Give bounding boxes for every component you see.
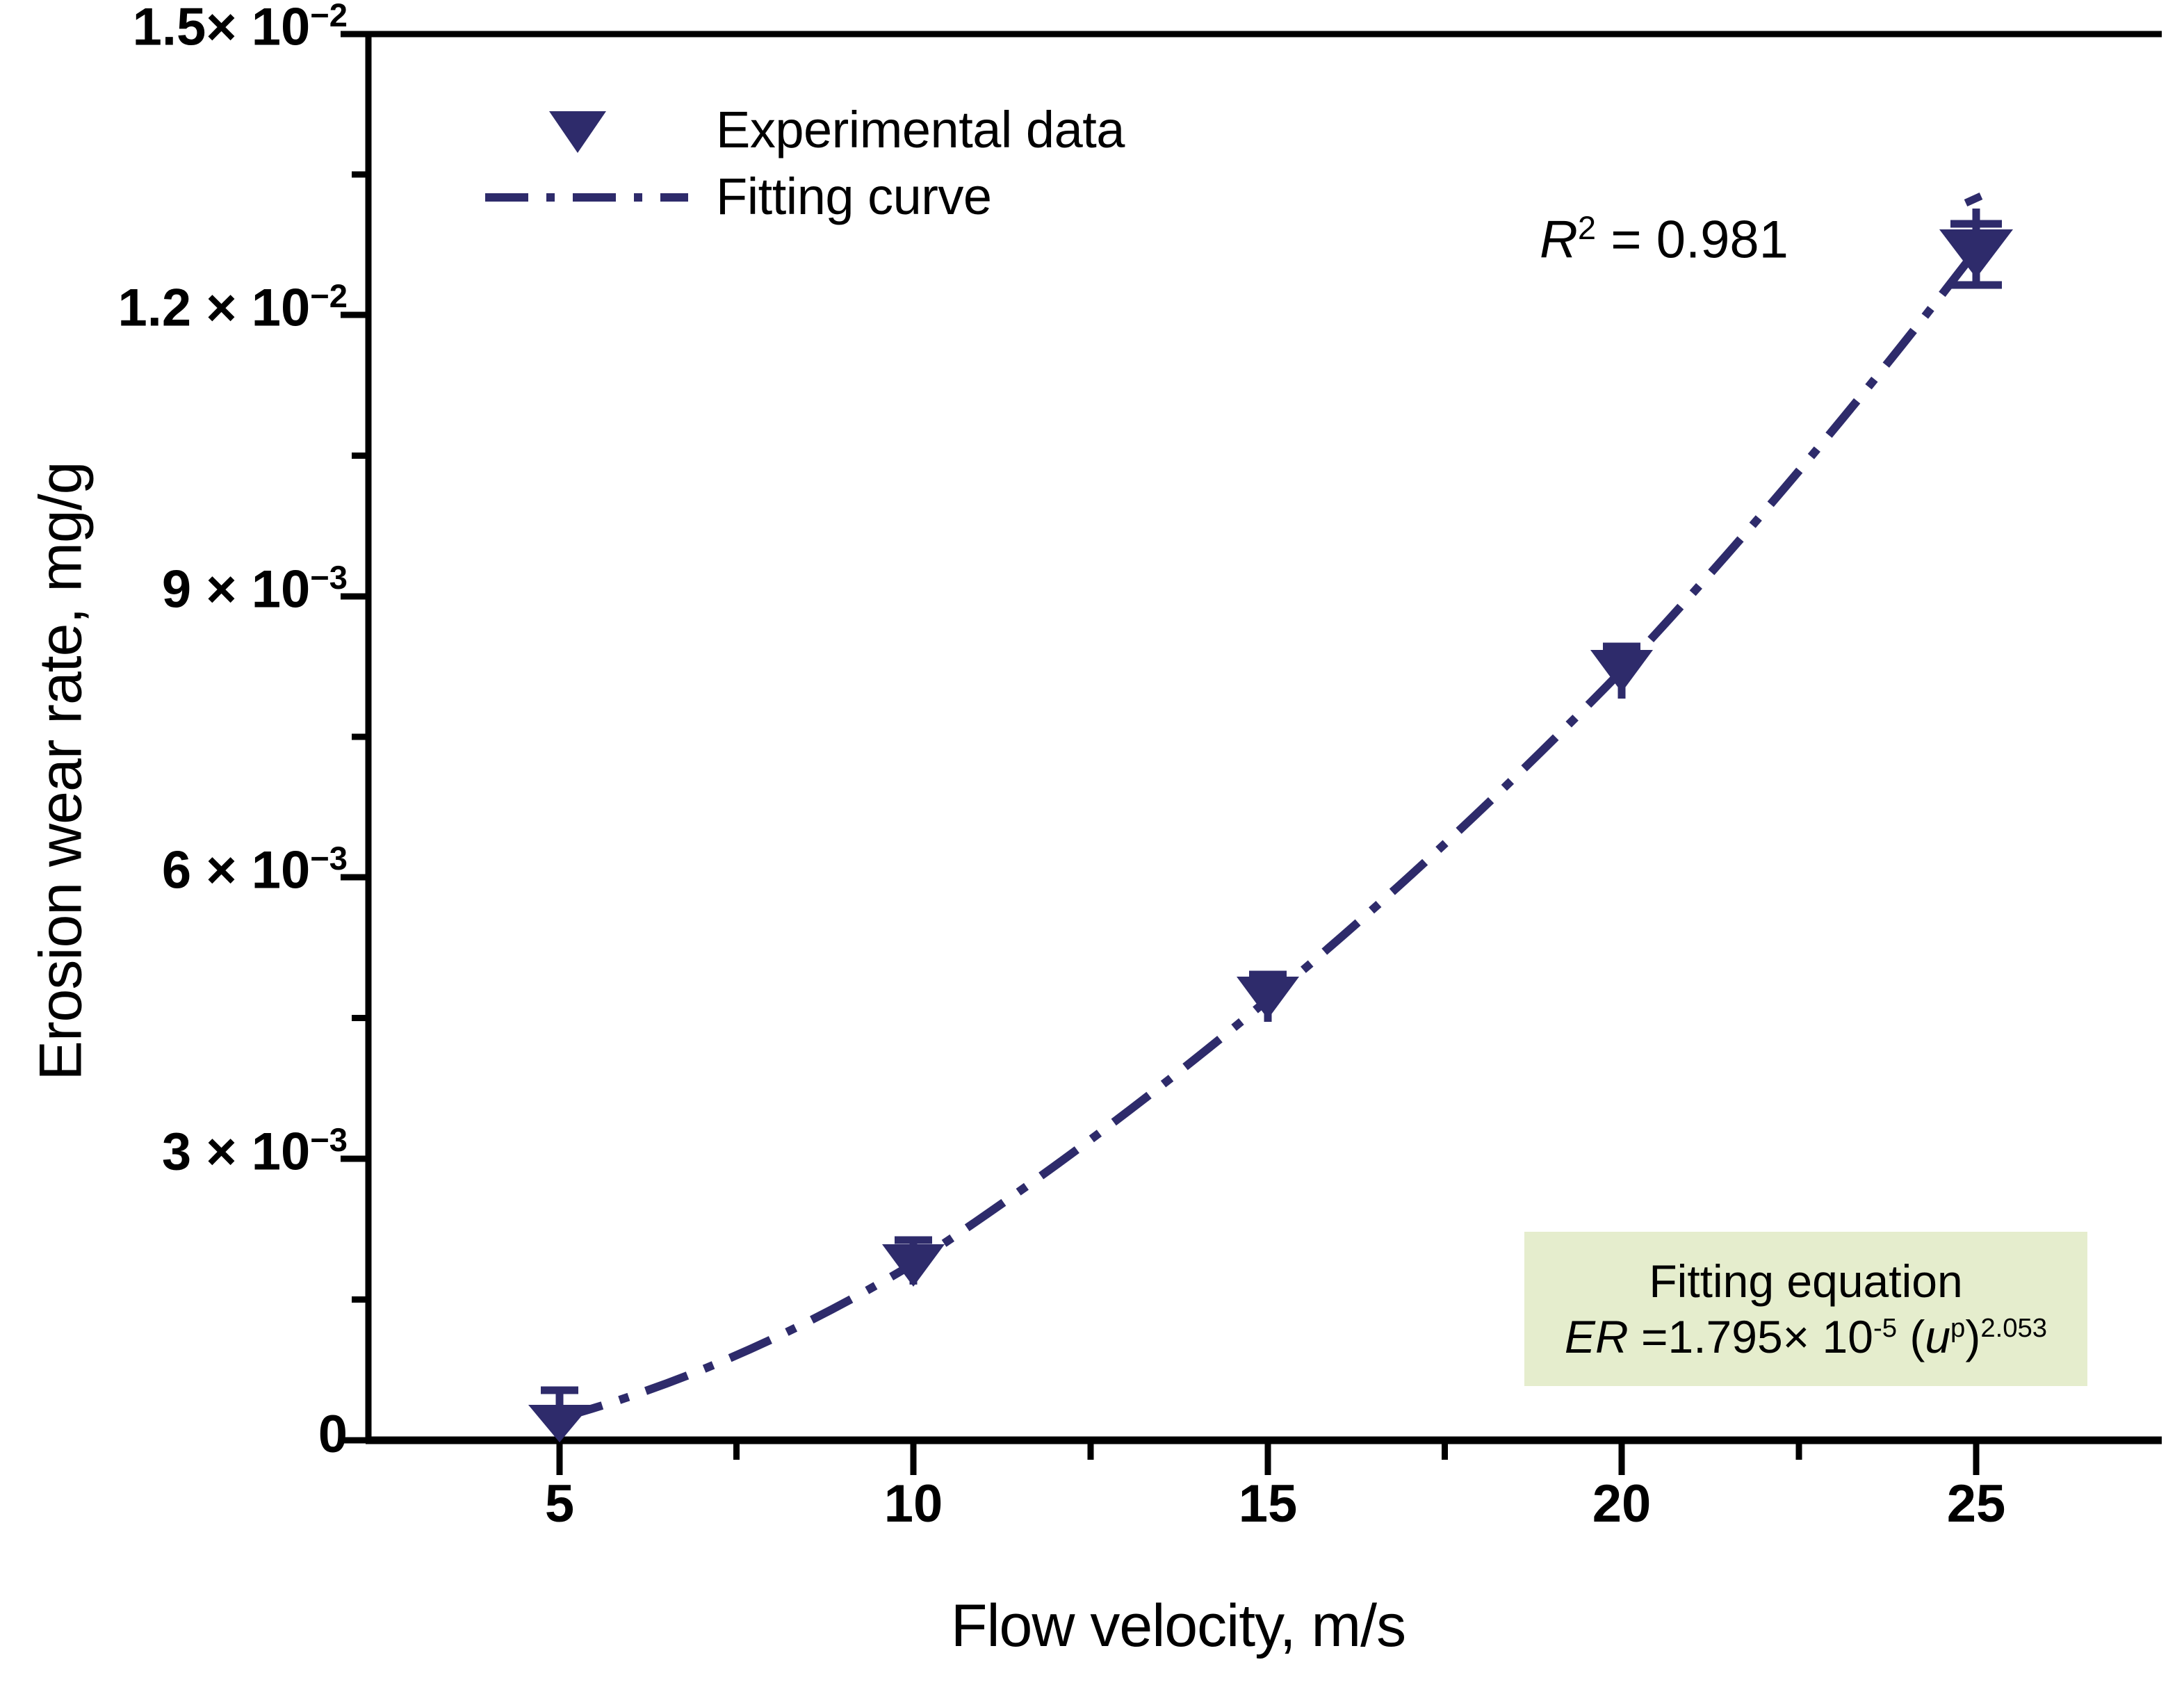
fitting-equation-box: Fitting equation ER =1.795× 10-5 (up)2.0… <box>1524 1232 2087 1386</box>
equation-exponent-1: -5 <box>1873 1313 1897 1343</box>
y-tick-label-6e-3: 6 × 10−3 <box>162 839 348 900</box>
x-tick-label-10: 10 <box>830 1474 997 1534</box>
x-tick-label-25: 25 <box>1893 1474 2060 1534</box>
y-tick-label-0: 0 <box>318 1404 348 1465</box>
dash-dot-line-icon <box>480 164 702 227</box>
equation-base: 10 <box>1809 1311 1873 1362</box>
legend-label-fitting-curve: Fitting curve <box>716 167 992 226</box>
fitting-equation-title: Fitting equation <box>1649 1255 1962 1308</box>
equation-variable-subscript: p <box>1950 1313 1965 1343</box>
legend-item-experimental-data: Experimental data <box>480 97 1105 160</box>
x-major-ticks <box>560 1440 1976 1475</box>
equation-times-symbol: × <box>1783 1311 1810 1362</box>
triangle-down-marker-icon <box>480 97 702 160</box>
x-tick-label-15: 15 <box>1184 1474 1351 1534</box>
r-squared-annotation: R2 = 0.981 <box>1540 209 1788 270</box>
data-point-marker <box>1590 650 1653 692</box>
y-tick-label-1p2e-2: 1.2 × 10−2 <box>117 277 348 338</box>
x-axis-title: Flow velocity, m/s <box>368 1592 1988 1661</box>
y-tick-label-9e-3: 9 × 10−3 <box>162 558 348 619</box>
x-tick-label-5: 5 <box>476 1474 643 1534</box>
legend: Experimental data Fitting curve <box>480 97 1105 236</box>
r-squared-exponent: 2 <box>1578 209 1596 246</box>
legend-item-fitting-curve: Fitting curve <box>480 164 1105 227</box>
data-point-marker <box>882 1244 945 1287</box>
fitting-equation-formula: ER =1.795× 10-5 (up)2.053 <box>1565 1310 2047 1363</box>
equation-close-paren: ) <box>1965 1311 1980 1362</box>
axis-lines <box>366 31 2162 1440</box>
r-squared-value: = 0.981 <box>1596 210 1788 269</box>
y-tick-label-1p5e-2: 1.5× 10−2 <box>133 0 348 57</box>
equation-exponent-2: 2.053 <box>1980 1313 2047 1343</box>
fitting-curve <box>560 998 1268 1418</box>
y-axis-title: Erosion wear rate, mg/g <box>27 355 96 1189</box>
x-tick-label-20: 20 <box>1538 1474 1705 1534</box>
data-point-marker <box>1237 977 1299 1019</box>
equation-coefficient: =1.795 <box>1629 1311 1783 1362</box>
equation-variable: u <box>1925 1311 1950 1362</box>
r-squared-symbol: R <box>1540 210 1578 269</box>
data-point-marker <box>1939 229 2013 278</box>
equation-lhs: ER <box>1565 1311 1629 1362</box>
equation-open-paren: ( <box>1897 1311 1925 1362</box>
legend-label-experimental-data: Experimental data <box>716 100 1125 159</box>
erosion-wear-rate-chart: 0 3 × 10−3 6 × 10−3 9 × 10−3 1.2 × 10−2 … <box>0 0 2184 1694</box>
y-tick-label-3e-3: 3 × 10−3 <box>162 1121 348 1182</box>
